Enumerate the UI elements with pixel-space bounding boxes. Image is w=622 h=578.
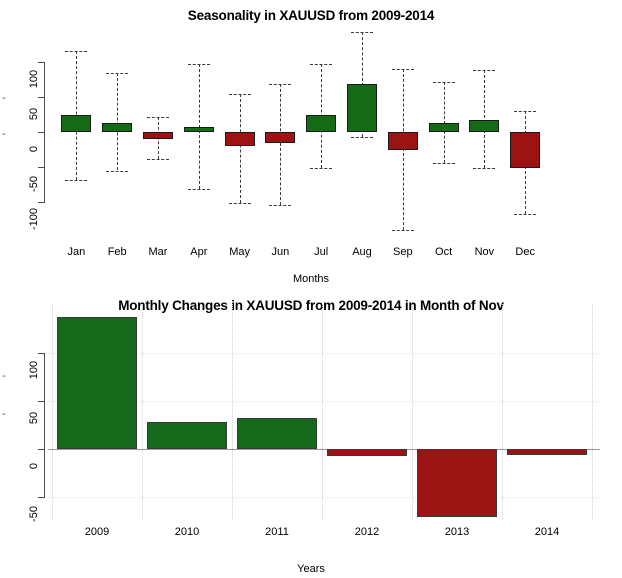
- whisker-line: [280, 84, 281, 204]
- y-axis-tick-label-bottom: 0: [26, 449, 42, 483]
- seasonality-bar: [306, 115, 336, 133]
- grid-line-vertical: [592, 304, 593, 519]
- whisker-cap-low: [269, 205, 291, 206]
- seasonality-bar: [347, 84, 377, 132]
- whisker-cap-high: [351, 32, 373, 33]
- seasonality-chart-panel: Seasonality in XAUUSD from 2009-2014 - -…: [0, 0, 622, 290]
- monthly-changes-x-axis-title: Years: [0, 563, 622, 575]
- x-axis-tick-label-bottom: 2010: [157, 526, 217, 538]
- x-axis-tick-label: Dec: [501, 246, 549, 258]
- x-axis-tick-label-bottom: 2014: [517, 526, 577, 538]
- seasonality-bar: [143, 132, 173, 139]
- whisker-cap-high: [514, 111, 536, 112]
- whisker-cap-low: [229, 203, 251, 204]
- y-axis-line-bottom: [44, 353, 45, 497]
- seasonality-bar: [102, 123, 132, 132]
- whisker-line: [403, 69, 404, 230]
- grid-line-vertical: [142, 304, 143, 519]
- grid-line-vertical: [232, 304, 233, 519]
- y-axis-tick-label: -100: [26, 202, 42, 236]
- whisker-cap-high: [310, 64, 332, 65]
- yearly-change-bar: [327, 449, 407, 456]
- grid-line-vertical: [502, 304, 503, 519]
- yearly-change-bar: [237, 418, 317, 449]
- yearly-change-bar: [147, 422, 227, 449]
- x-axis-tick-label-bottom: 2013: [427, 526, 487, 538]
- yearly-change-bar: [507, 449, 587, 455]
- whisker-cap-low: [188, 189, 210, 190]
- y-axis-tick-label-bottom: -50: [26, 497, 42, 531]
- y-axis-tick-label-bottom: 100: [26, 353, 42, 387]
- grid-line-vertical: [322, 304, 323, 519]
- whisker-cap-low: [433, 163, 455, 164]
- grid-line-vertical: [52, 304, 53, 519]
- seasonality-bar: [429, 123, 459, 132]
- whisker-cap-high: [473, 70, 495, 71]
- whisker-cap-high: [147, 117, 169, 118]
- seasonality-bar: [184, 127, 214, 132]
- grid-line-vertical: [412, 304, 413, 519]
- whisker-cap-high: [229, 94, 251, 95]
- x-axis-tick-label-bottom: 2011: [247, 526, 307, 538]
- chart-canvas: Seasonality in XAUUSD from 2009-2014 - -…: [0, 0, 622, 578]
- seasonality-bar: [510, 132, 540, 168]
- x-axis-tick-label-bottom: 2012: [337, 526, 397, 538]
- whisker-cap-high: [188, 64, 210, 65]
- whisker-line: [484, 70, 485, 168]
- x-axis-tick-label-bottom: 2009: [67, 526, 127, 538]
- seasonality-bar: [469, 120, 499, 132]
- yearly-change-bar: [417, 449, 497, 517]
- seasonality-x-axis-title: Months: [0, 273, 622, 285]
- whisker-line: [240, 94, 241, 203]
- monthly-changes-plot-area: 100500-50200920102011201220132014: [0, 288, 622, 538]
- y-axis-tick-label: -50: [26, 167, 42, 201]
- seasonality-bar: [265, 132, 295, 143]
- yearly-change-bar: [57, 317, 137, 449]
- y-axis-tick-label-bottom: 50: [26, 401, 42, 435]
- whisker-cap-low: [473, 168, 495, 169]
- whisker-cap-low: [310, 168, 332, 169]
- whisker-cap-low: [65, 180, 87, 181]
- seasonality-plot-area: 100500-50-100JanFebMarAprMayJunJulAugSep…: [0, 0, 622, 240]
- whisker-cap-high: [433, 82, 455, 83]
- whisker-cap-low: [514, 214, 536, 215]
- y-axis-tick-label: 100: [26, 62, 42, 96]
- y-axis-tick-label: 0: [26, 132, 42, 166]
- seasonality-bar: [225, 132, 255, 146]
- whisker-cap-low: [392, 230, 414, 231]
- whisker-cap-low: [147, 159, 169, 160]
- grid-line-horizontal: [48, 497, 600, 498]
- whisker-cap-high: [392, 69, 414, 70]
- seasonality-bar: [388, 132, 418, 150]
- whisker-cap-low: [106, 171, 128, 172]
- whisker-cap-high: [65, 51, 87, 52]
- seasonality-bar: [61, 115, 91, 132]
- whisker-line: [117, 73, 118, 170]
- whisker-cap-high: [106, 73, 128, 74]
- y-axis-tick-label: 50: [26, 97, 42, 131]
- monthly-changes-chart-panel: Monthly Changes in XAUUSD from 2009-2014…: [0, 288, 622, 578]
- whisker-cap-low: [351, 137, 373, 138]
- whisker-cap-high: [269, 84, 291, 85]
